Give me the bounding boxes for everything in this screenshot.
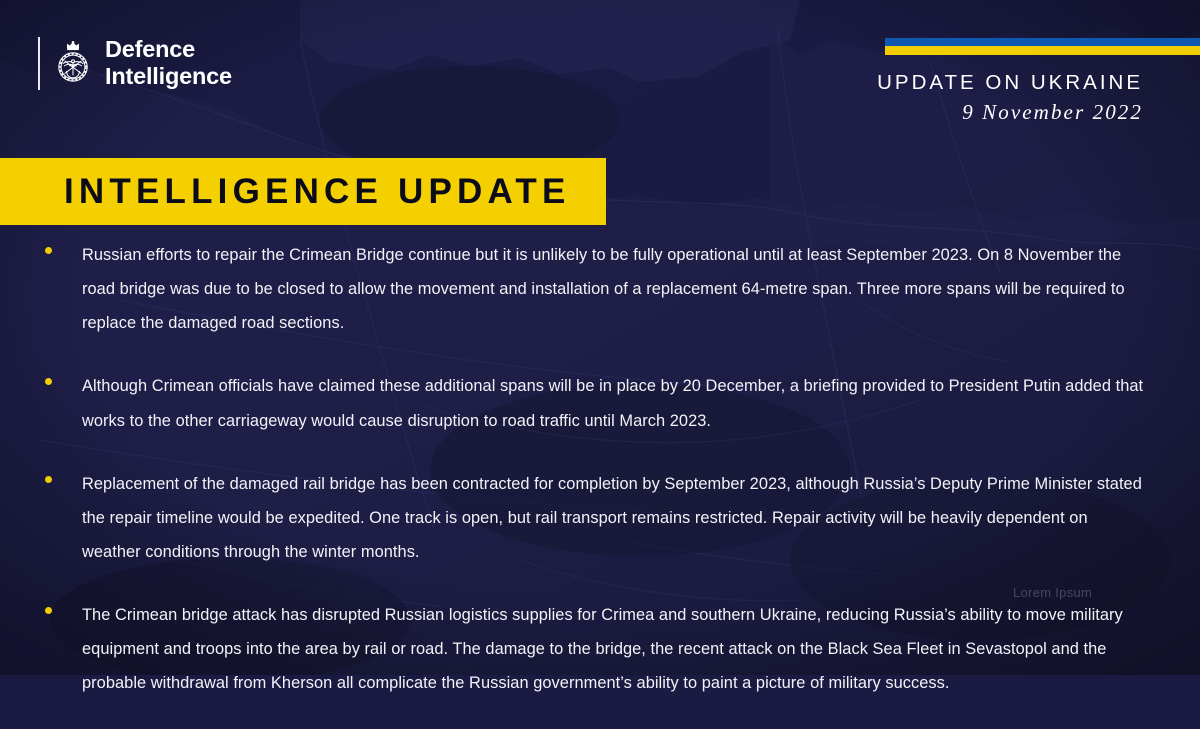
header-title-block: UPDATE ON UKRAINE 9 November 2022 [877,70,1143,126]
bullet-text: Russian efforts to repair the Crimean Br… [82,238,1150,340]
list-item: The Crimean bridge attack has disrupted … [0,598,1200,700]
list-item: Although Crimean officials have claimed … [0,369,1200,437]
ukraine-flag-bar-icon [885,38,1200,55]
logo-wordmark: Defence Intelligence [105,36,232,91]
flag-stripe-yellow [885,46,1200,55]
bullet-text: Although Crimean officials have claimed … [82,369,1150,437]
intelligence-update-banner: INTELLIGENCE UPDATE [0,158,606,225]
logo-divider [38,37,40,90]
page-header: Defence Intelligence UPDATE ON UKRAINE 9… [0,0,1200,150]
mod-defence-intelligence-crest-icon [51,37,95,89]
bullet-list: Russian efforts to repair the Crimean Br… [0,238,1200,729]
defence-intelligence-logo: Defence Intelligence [38,36,232,91]
bullet-dot-icon [45,247,52,254]
list-item: Replacement of the damaged rail bridge h… [0,467,1200,569]
bullet-dot-icon [45,607,52,614]
bullet-dot-icon [45,476,52,483]
list-item: Russian efforts to repair the Crimean Br… [0,238,1200,340]
logo-line-1: Defence [105,36,232,63]
bullet-dot-icon [45,378,52,385]
banner-label: INTELLIGENCE UPDATE [64,172,571,212]
flag-stripe-blue [885,38,1200,46]
bullet-text: Replacement of the damaged rail bridge h… [82,467,1150,569]
bullet-text: The Crimean bridge attack has disrupted … [82,598,1150,700]
page-title: UPDATE ON UKRAINE [877,70,1143,96]
logo-line-2: Intelligence [105,63,232,90]
publication-date: 9 November 2022 [877,99,1143,126]
